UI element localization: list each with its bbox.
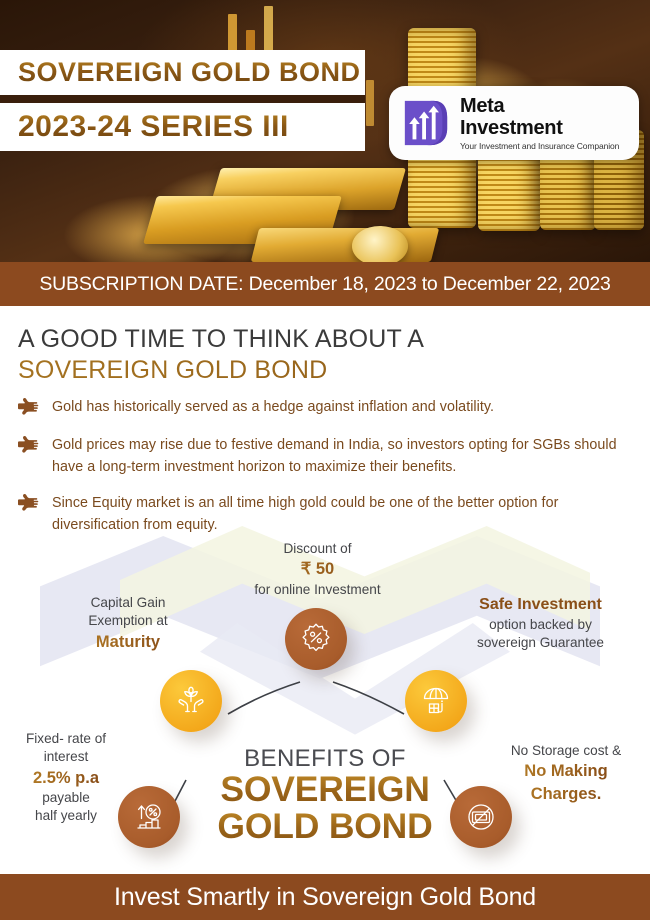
umbrella-bank-icon	[419, 684, 453, 718]
benefit-icon-capital-gain[interactable]	[160, 670, 222, 732]
diagram-center-title: BENEFITS OF SOVEREIGN GOLD BOND	[205, 746, 445, 844]
benefit-label-fixed-rate: Fixed- rate of interest 2.5% p.a payable…	[6, 730, 126, 826]
candle-decor	[366, 80, 374, 126]
title-divider	[0, 95, 365, 103]
brand-logo[interactable]: Meta Investment Your Investment and Insu…	[389, 86, 639, 160]
no-storage-emphasis1: No Making	[486, 760, 646, 782]
benefit-icon-discount[interactable]	[285, 608, 347, 670]
hero-title-line2: 2023-24 SERIES III	[0, 103, 365, 151]
benefit-label-safe-investment: Safe Investment option backed by soverei…	[438, 594, 643, 652]
capital-gain-line1: Capital Gain	[48, 594, 208, 612]
headline-block: A GOOD TIME TO THINK ABOUT A SOVEREIGN G…	[18, 324, 638, 387]
footer-text: Invest Smartly in Sovereign Gold Bond	[114, 883, 536, 912]
fixed-rate-line3: payable	[6, 789, 126, 807]
fixed-rate-line4: half yearly	[6, 807, 126, 825]
center-title-line1: SOVEREIGN	[205, 771, 445, 807]
no-storage-line1: No Storage cost &	[486, 742, 646, 760]
list-item: Gold has historically served as a hedge …	[18, 396, 640, 420]
benefits-diagram: Discount of ₹ 50 for online Investment C…	[0, 528, 650, 866]
logo-text-block: Meta Investment Your Investment and Insu…	[460, 96, 619, 151]
discount-line2: for online Investment	[230, 581, 405, 599]
safe-investment-emphasis: Safe Investment	[438, 594, 643, 616]
headline-line2: SOVEREIGN GOLD BOND	[18, 355, 638, 386]
benefit-label-capital-gain: Capital Gain Exemption at Maturity	[48, 594, 208, 653]
fixed-rate-line1: Fixed- rate of	[6, 730, 126, 748]
footer-bar: Invest Smartly in Sovereign Gold Bond	[0, 874, 650, 920]
hero-title-line1: SOVEREIGN GOLD BOND	[0, 50, 365, 95]
hands-plant-icon	[174, 684, 208, 718]
bullet-text: Gold has historically served as a hedge …	[52, 396, 494, 420]
pointing-hand-icon	[18, 396, 44, 420]
safe-investment-line1: option backed by	[438, 616, 643, 634]
arrow-percent-chart-icon	[132, 800, 166, 834]
capital-gain-line2: Exemption at	[48, 612, 208, 630]
discount-amount: ₹ 50	[230, 558, 405, 580]
benefit-icon-fixed-rate[interactable]	[118, 786, 180, 848]
hero-title-line2-text: 2023-24 SERIES III	[18, 110, 289, 143]
benefit-label-no-storage: No Storage cost & No Making Charges.	[486, 742, 646, 805]
fixed-rate-line2: interest	[6, 748, 126, 766]
subscription-date-bar: SUBSCRIPTION DATE: December 18, 2023 to …	[0, 262, 650, 306]
headline-line1: A GOOD TIME TO THINK ABOUT A	[18, 324, 638, 355]
benefit-icon-safe-investment[interactable]	[405, 670, 467, 732]
gold-bar	[251, 228, 439, 262]
logo-name-line2: Investment	[460, 118, 619, 138]
no-storage-emphasis2: Charges.	[486, 783, 646, 805]
logo-tagline: Your Investment and Insurance Companion	[460, 142, 619, 151]
fixed-rate-emphasis: 2.5% p.a	[6, 767, 126, 789]
benefit-label-discount: Discount of ₹ 50 for online Investment	[230, 540, 405, 599]
hero-title-line1-text: SOVEREIGN GOLD BOND	[18, 57, 361, 87]
hero-title-block: SOVEREIGN GOLD BOND 2023-24 SERIES III	[0, 50, 365, 151]
center-title-small: BENEFITS OF	[205, 746, 445, 771]
meta-investment-logo-icon	[401, 97, 451, 149]
list-item: Gold prices may rise due to festive dema…	[18, 434, 640, 478]
logo-name-line1: Meta	[460, 96, 619, 116]
safe-investment-line2: sovereign Guarantee	[438, 634, 643, 652]
center-title-line2: GOLD BOND	[205, 808, 445, 844]
discount-line1: Discount of	[230, 540, 405, 558]
capital-gain-emphasis: Maturity	[48, 631, 208, 653]
subscription-date-text: SUBSCRIPTION DATE: December 18, 2023 to …	[39, 273, 610, 296]
pointing-hand-icon	[18, 434, 44, 478]
percent-badge-icon	[299, 622, 333, 656]
benefit-icon-no-storage[interactable]	[450, 786, 512, 848]
infographic-poster: SOVEREIGN GOLD BOND 2023-24 SERIES III M…	[0, 0, 650, 920]
bullet-text: Gold prices may rise due to festive dema…	[52, 434, 640, 478]
hero-banner: SOVEREIGN GOLD BOND 2023-24 SERIES III M…	[0, 0, 650, 262]
no-banknote-icon	[464, 800, 498, 834]
coin-blob	[352, 226, 408, 262]
